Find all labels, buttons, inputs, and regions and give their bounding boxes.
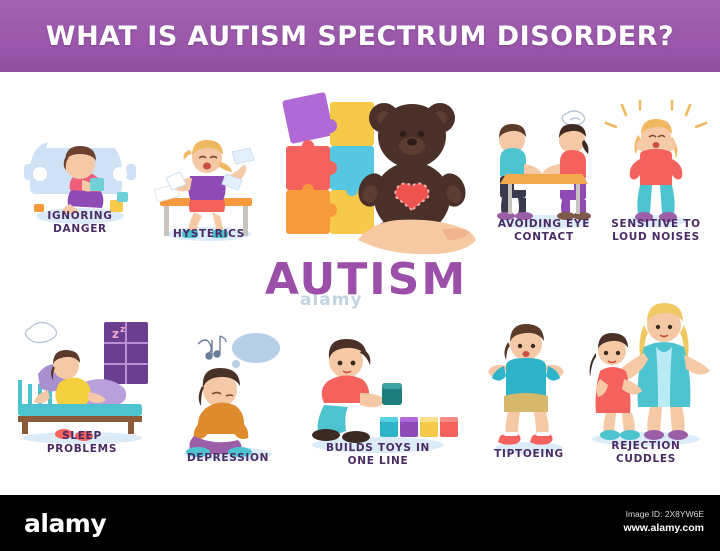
puzzle-bear-illustration [272,90,496,254]
caption-sleep-problems: SLEEP PROBLEMS [8,430,156,456]
header-band: WHAT IS AUTISM SPECTRUM DISORDER? [0,0,720,72]
svg-text:z: z [120,325,125,335]
child-figure [590,333,642,440]
autism-wordmark: AUTISM [236,254,496,305]
caption-builds-toys-in-one-line: BUILDS TOYS IN ONE LINE [296,442,460,468]
rejection-cuddles-illustration [578,284,714,454]
scene-avoiding-eye-contact: AVOIDING EYE CONTACT [484,92,604,242]
stock-watermark-bar: alamy Image ID: 2X8YW6E www.alamy.com [0,495,720,551]
caption-ignoring-danger: IGNORING DANGER [14,210,146,236]
caption-rejection-cuddles: REJECTION CUDDLES [578,440,714,466]
depression-illustration [164,312,292,472]
center-autism-graphic [272,90,496,254]
caption-sensitive-to-loud-noises: SENSITIVE TO LOUD NOISES [600,218,712,244]
caption-tiptoeing: TIPTOEING [470,448,588,461]
alamy-logo: alamy [24,509,106,538]
infographic-canvas: IGNORING DANGER [0,72,720,495]
block-row [380,417,458,437]
scene-rejection-cuddles: REJECTION CUDDLES [578,284,714,454]
scene-sensitive-to-loud-noises: SENSITIVE TO LOUD NOISES [600,90,712,240]
thought-scribble [562,111,584,126]
scene-sleep-problems: z z [8,298,156,458]
scene-builds-toys-in-one-line: BUILDS TOYS IN ONE LINE [296,308,460,468]
page-title: WHAT IS AUTISM SPECTRUM DISORDER? [46,21,674,52]
scene-hysterics: HYSTERICS [146,106,272,256]
caption-depression: DEPRESSION [164,452,292,465]
caption-hysterics: HYSTERICS [146,228,272,241]
scene-depression: DEPRESSION [164,312,292,472]
tiptoeing-illustration [470,304,588,464]
supporting-hand [358,220,476,254]
scribble-notes [198,336,226,359]
scene-ignoring-danger: IGNORING DANGER [14,92,146,242]
puzzle-pieces [282,92,374,234]
thought-bubble [232,333,280,363]
scene-tiptoeing: TIPTOEING [470,304,588,464]
image-id-text: Image ID: 2X8YW6E [623,508,704,521]
svg-text:z: z [112,327,119,341]
caption-avoiding-eye-contact: AVOIDING EYE CONTACT [484,218,604,244]
thought-cloud [25,322,56,342]
footer-meta: Image ID: 2X8YW6E www.alamy.com [623,508,704,535]
alamy-url[interactable]: www.alamy.com [623,521,704,535]
